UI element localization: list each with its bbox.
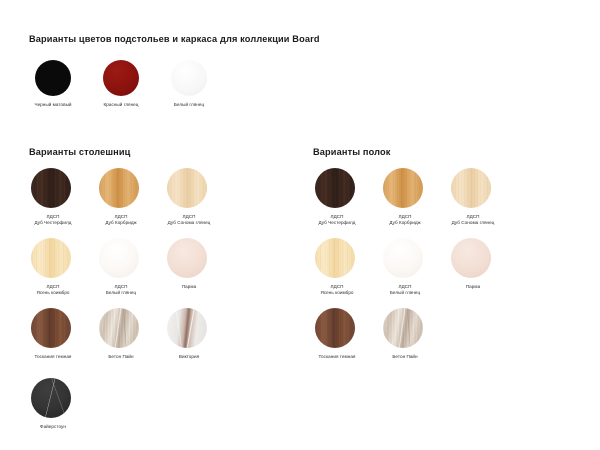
stone-vein-overlay	[99, 308, 139, 348]
swatch-item-white-gloss[interactable]: Белый глянец	[163, 60, 251, 108]
wood-grain-overlay	[31, 308, 71, 348]
swatch-texture	[451, 238, 491, 278]
color-options-page: Варианты цветов подстольев и каркаса для…	[0, 0, 600, 450]
wood-grain-overlay	[31, 238, 71, 278]
swatch-color-circle	[167, 168, 207, 208]
page-title: Варианты цветов подстольев и каркаса для…	[29, 34, 320, 44]
swatch-name: Файерстоун	[9, 424, 97, 430]
marble-vein-overlay	[167, 308, 207, 348]
swatch-color-circle	[99, 168, 139, 208]
wood-grain-overlay	[383, 168, 423, 208]
swatch-name: Дуб Сонома глянец	[145, 220, 233, 226]
swatch-color-circle	[99, 308, 139, 348]
wood-grain-overlay	[99, 168, 139, 208]
swatch-name: Белый глянец	[77, 290, 165, 296]
swatch-caption: Виктория	[145, 354, 233, 360]
swatch-caption: Черный матовый	[15, 102, 91, 108]
swatch-color-circle	[383, 238, 423, 278]
swatch-color-circle	[315, 238, 355, 278]
swatch-color-circle	[31, 378, 71, 418]
swatch-name: Красный глянец	[83, 102, 159, 108]
swatch-caption: Файерстоун	[9, 424, 97, 430]
section-title-shelves: Варианты полок	[313, 147, 391, 157]
swatch-color-circle	[167, 238, 207, 278]
swatch-color-circle	[31, 238, 71, 278]
swatch-texture	[99, 238, 139, 278]
swatch-item-oak-sonoma-gloss[interactable]: ЛДСП Дуб Сонома глянец	[447, 168, 535, 227]
swatch-color-circle	[99, 238, 139, 278]
swatch-caption: Бетон Пайн	[361, 354, 449, 360]
swatch-item-beton-pine[interactable]: Бетон Пайн	[379, 308, 467, 360]
stone-crack-overlay	[31, 378, 71, 418]
swatch-item-oak-sonoma-gloss[interactable]: ЛДСП Дуб Сонома глянец	[163, 168, 251, 227]
swatch-color-circle	[383, 308, 423, 348]
swatch-name: Белый глянец	[151, 102, 227, 108]
swatch-item-victoria[interactable]: Виктория	[163, 308, 251, 360]
swatch-name: Виктория	[145, 354, 233, 360]
swatch-item-parma[interactable]: Парма	[163, 238, 251, 290]
swatch-color-circle	[31, 308, 71, 348]
swatch-caption: Парма	[145, 284, 233, 290]
swatch-caption: ЛДСП Дуб Сонома глянец	[145, 214, 233, 227]
swatch-color-circle	[31, 168, 71, 208]
wood-grain-overlay	[31, 168, 71, 208]
swatch-caption: Красный глянец	[83, 102, 159, 108]
swatch-name: Дуб Сонома глянец	[429, 220, 517, 226]
swatch-texture	[167, 238, 207, 278]
swatch-texture	[383, 238, 423, 278]
swatch-name: Парма	[429, 284, 517, 290]
swatch-caption: Белый глянец	[151, 102, 227, 108]
stone-vein-overlay	[383, 308, 423, 348]
swatch-texture	[103, 60, 139, 96]
swatch-name: Бетон Пайн	[361, 354, 449, 360]
swatch-name: Черный матовый	[15, 102, 91, 108]
swatch-color-circle	[451, 238, 491, 278]
swatch-color-circle	[35, 60, 71, 96]
swatch-color-circle	[171, 60, 207, 96]
swatch-color-circle	[383, 168, 423, 208]
wood-grain-overlay	[315, 168, 355, 208]
wood-grain-overlay	[315, 238, 355, 278]
swatch-color-circle	[315, 308, 355, 348]
swatch-caption: Парма	[429, 284, 517, 290]
swatch-color-circle	[451, 168, 491, 208]
swatch-color-circle	[315, 168, 355, 208]
swatch-color-circle	[103, 60, 139, 96]
swatch-item-firestone[interactable]: Файерстоун	[27, 378, 115, 430]
wood-grain-overlay	[451, 168, 491, 208]
wood-grain-overlay	[167, 168, 207, 208]
swatch-caption: ЛДСП Дуб Сонома глянец	[429, 214, 517, 227]
swatch-item-parma[interactable]: Парма	[447, 238, 535, 290]
swatch-color-circle	[167, 308, 207, 348]
swatch-name: Парма	[145, 284, 233, 290]
swatch-texture	[35, 60, 71, 96]
section-title-tabletops: Варианты столешниц	[29, 147, 130, 157]
swatch-texture	[171, 60, 207, 96]
swatch-name: Белый глянец	[361, 290, 449, 296]
wood-grain-overlay	[315, 308, 355, 348]
